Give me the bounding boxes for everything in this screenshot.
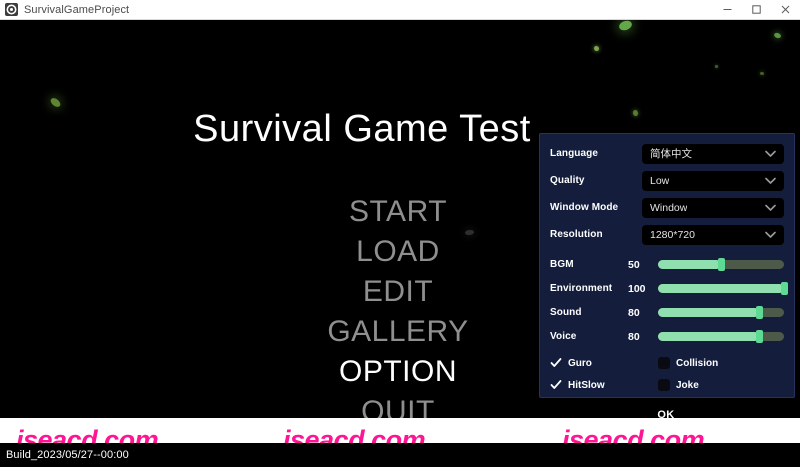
checkbox-group: GuroCollisionHitSlowJoke — [550, 353, 784, 395]
background-particle — [594, 46, 599, 51]
option-label: Window Mode — [550, 202, 642, 213]
select-language[interactable]: 简体中文 — [642, 144, 784, 164]
option-row-window-mode: Window ModeWindow — [550, 196, 784, 219]
slider-fill — [658, 332, 759, 341]
slider-fill — [658, 284, 784, 293]
slider-label: Sound — [550, 307, 628, 318]
slider-handle[interactable] — [718, 258, 725, 271]
select-quality[interactable]: Low — [642, 171, 784, 191]
slider-label: Voice — [550, 331, 628, 342]
slider-value: 80 — [628, 331, 658, 343]
background-particle — [49, 96, 62, 108]
app-icon — [5, 3, 18, 16]
slider-fill — [658, 308, 759, 317]
checkmark-icon — [550, 379, 562, 391]
background-particle — [618, 20, 634, 32]
checkbox-label: Guro — [568, 358, 592, 369]
slider-handle[interactable] — [756, 330, 763, 343]
checkbox-empty-icon — [658, 379, 670, 391]
slider-label: BGM — [550, 259, 628, 270]
maximize-button[interactable] — [742, 0, 771, 20]
chevron-down-icon — [765, 177, 776, 184]
background-particle — [773, 32, 781, 39]
options-panel: Language简体中文QualityLowWindow ModeWindowR… — [539, 133, 795, 398]
checkbox-row: HitSlowJoke — [550, 375, 784, 395]
slider-track-sound[interactable] — [658, 308, 784, 317]
option-row-resolution: Resolution1280*720 — [550, 223, 784, 246]
checkbox-hitslow[interactable]: HitSlow — [550, 379, 658, 391]
slider-track-voice[interactable] — [658, 332, 784, 341]
menu-item-gallery[interactable]: GALLERY — [327, 312, 468, 352]
select-value: Low — [650, 175, 669, 187]
checkmark-icon — [550, 357, 562, 369]
menu-item-load[interactable]: LOAD — [356, 232, 440, 272]
slider-row-environment: Environment100 — [550, 278, 784, 299]
slider-row-voice: Voice80 — [550, 326, 784, 347]
background-particle — [760, 72, 764, 75]
slider-group: BGM50Environment100Sound80Voice80 — [550, 254, 784, 347]
option-label: Language — [550, 148, 642, 159]
slider-value: 80 — [628, 307, 658, 319]
select-value: 简体中文 — [650, 146, 692, 161]
option-row-quality: QualityLow — [550, 169, 784, 192]
checkbox-label: Collision — [676, 358, 718, 369]
checkbox-label: HitSlow — [568, 380, 605, 391]
chevron-down-icon — [765, 204, 776, 211]
slider-track-bgm[interactable] — [658, 260, 784, 269]
chevron-down-icon — [765, 150, 776, 157]
slider-value: 50 — [628, 259, 658, 271]
slider-row-bgm: BGM50 — [550, 254, 784, 275]
slider-label: Environment — [550, 283, 628, 294]
dropdown-group: Language简体中文QualityLowWindow ModeWindowR… — [550, 142, 784, 246]
menu-item-edit[interactable]: EDIT — [363, 272, 433, 312]
window-title: SurvivalGameProject — [24, 4, 129, 16]
window-controls — [713, 0, 800, 20]
menu-item-start[interactable]: START — [349, 192, 447, 232]
build-version-label: Build_2023/05/27--00:00 — [6, 449, 129, 461]
application-window: SurvivalGameProject Survival Game Test S… — [0, 0, 800, 467]
slider-handle[interactable] — [756, 306, 763, 319]
title-bar: SurvivalGameProject — [0, 0, 800, 20]
slider-handle[interactable] — [781, 282, 788, 295]
game-viewport: Survival Game Test STARTLOADEDITGALLERYO… — [0, 20, 800, 447]
slider-row-sound: Sound80 — [550, 302, 784, 323]
slider-fill — [658, 260, 721, 269]
minimize-button[interactable] — [713, 0, 742, 20]
select-window-mode[interactable]: Window — [642, 198, 784, 218]
option-label: Resolution — [550, 229, 642, 240]
chevron-down-icon — [765, 231, 776, 238]
close-button[interactable] — [771, 0, 800, 20]
checkbox-label: Joke — [676, 380, 699, 391]
checkbox-guro[interactable]: Guro — [550, 357, 658, 369]
checkbox-joke[interactable]: Joke — [658, 379, 766, 391]
game-title-text: Survival Game Test — [193, 108, 531, 151]
option-label: Quality — [550, 175, 642, 186]
status-bar: Build_2023/05/27--00:00 — [0, 443, 800, 467]
select-value: Window — [650, 202, 687, 214]
checkbox-empty-icon — [658, 357, 670, 369]
checkbox-row: GuroCollision — [550, 353, 784, 373]
checkbox-collision[interactable]: Collision — [658, 357, 766, 369]
slider-value: 100 — [628, 283, 658, 295]
option-row-language: Language简体中文 — [550, 142, 784, 165]
slider-track-environment[interactable] — [658, 284, 784, 293]
select-resolution[interactable]: 1280*720 — [642, 225, 784, 245]
menu-item-option[interactable]: OPTION — [339, 352, 457, 392]
select-value: 1280*720 — [650, 229, 695, 241]
background-particle — [715, 65, 718, 68]
